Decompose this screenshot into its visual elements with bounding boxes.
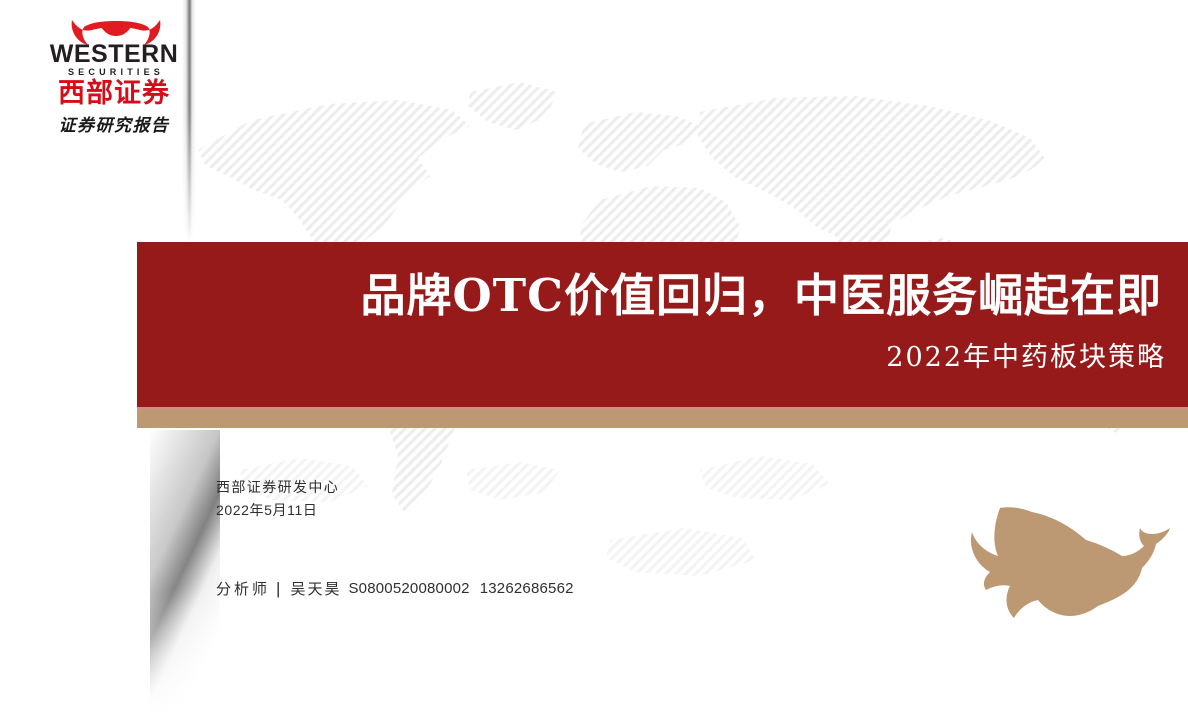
logo-brand-en-sub: SECURITIES <box>44 68 184 77</box>
institution-label: 西部证券研发中心 <box>216 478 339 500</box>
analyst-label: 分析师 <box>216 578 270 599</box>
logo-brand-cn: 西部证券 <box>44 80 184 108</box>
bull-silhouette-icon <box>928 486 1178 666</box>
logo-brand-en: WESTERN <box>44 42 184 67</box>
page-fold-edge-line <box>196 0 198 244</box>
analyst-license-code: S0800520080002 <box>348 580 469 597</box>
analyst-name: 吴天昊 <box>290 578 348 599</box>
page-title: 品牌OTC价值回归，中医服务崛起在即 <box>137 270 1162 322</box>
report-meta: 西部证券研发中心 2022年5月11日 <box>216 478 339 521</box>
analyst-separator: | <box>270 579 290 599</box>
banner-tan-bar <box>137 409 1188 428</box>
logo-tagline: 证券研究报告 <box>44 118 184 135</box>
page-fold-shadow-bottom <box>150 430 220 720</box>
title-slide: WESTERN SECURITIES 西部证券 证券研究报告 品牌OTC价值回归… <box>0 0 1188 720</box>
page-subtitle: 2022年中药板块策略 <box>137 342 1166 374</box>
company-logo: WESTERN SECURITIES 西部证券 证券研究报告 <box>44 18 184 140</box>
report-date: 2022年5月11日 <box>216 500 339 522</box>
page-fold-shadow-top <box>182 0 196 244</box>
analyst-info: 分析师 | 吴天昊 S0800520080002 13262686562 <box>216 578 574 599</box>
analyst-phone: 13262686562 <box>470 580 574 597</box>
title-banner: 品牌OTC价值回归，中医服务崛起在即 2022年中药板块策略 <box>137 242 1188 407</box>
